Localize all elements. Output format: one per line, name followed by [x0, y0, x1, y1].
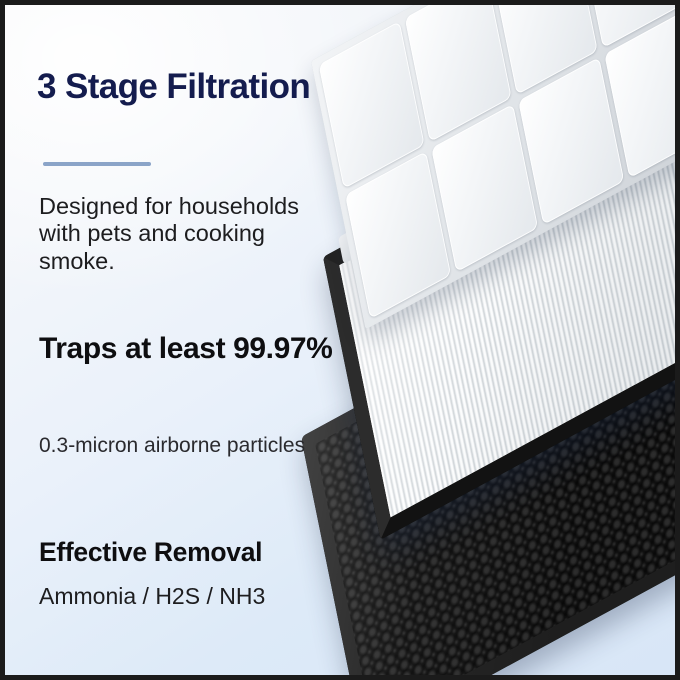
efficiency-claim: Traps at least 99.97%	[39, 331, 339, 368]
effective-removal-list: Ammonia / H2S / NH3	[39, 583, 265, 610]
effective-removal-title: Effective Removal	[39, 537, 262, 568]
subheadline-text: Designed for households with pets and co…	[39, 193, 339, 275]
pre-filter-cell	[665, 0, 680, 1]
title-divider	[43, 162, 151, 166]
page-title: 3 Stage Filtration	[37, 67, 310, 107]
product-feature-poster: 3 Stage Filtration Designed for househol…	[0, 0, 680, 680]
copy-column: 3 Stage Filtration Designed for househol…	[37, 5, 367, 675]
efficiency-claim-note: 0.3-micron airborne particles	[39, 433, 339, 459]
